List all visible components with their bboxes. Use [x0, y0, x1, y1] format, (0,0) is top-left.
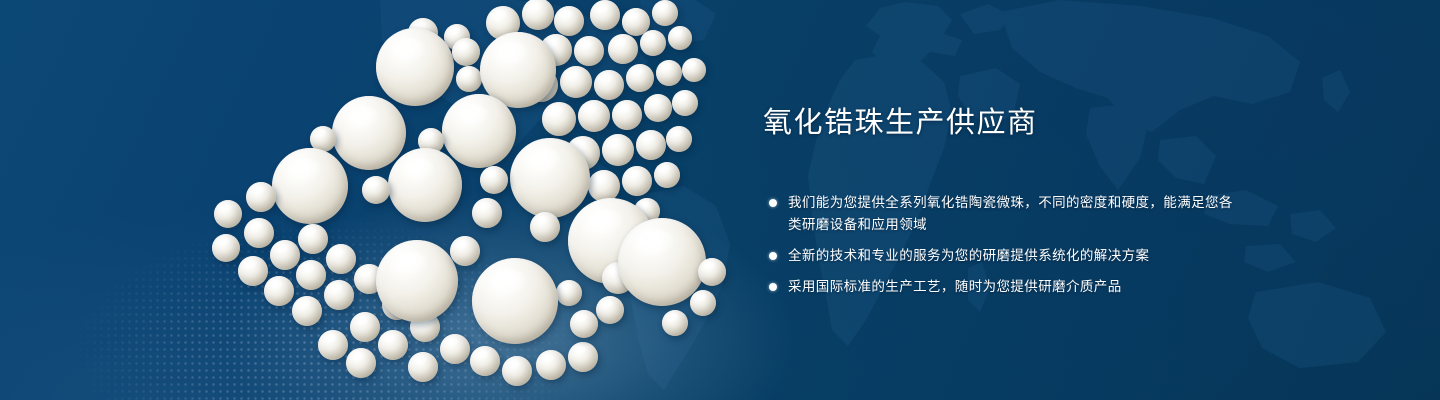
- banner-bullet-list: 我们能为您提供全系列氧化锆陶瓷微珠，不同的密度和硬度，能满足您各类研磨设备和应用…: [763, 192, 1233, 298]
- zirconia-beads-image: [150, 0, 750, 400]
- bullet-text: 全新的技术和专业的服务为您的研磨提供系统化的解决方案: [788, 248, 1149, 263]
- list-item: 采用国际标准的生产工艺，随时为您提供研磨介质产品: [763, 276, 1233, 298]
- hero-banner: 氧化锆珠生产供应商 我们能为您提供全系列氧化锆陶瓷微珠，不同的密度和硬度，能满足…: [0, 0, 1440, 400]
- banner-headline: 氧化锆珠生产供应商: [763, 104, 1233, 142]
- bullet-text: 采用国际标准的生产工艺，随时为您提供研磨介质产品: [788, 279, 1122, 294]
- bullet-dot-icon: [769, 252, 777, 260]
- halftone-texture: [0, 150, 620, 400]
- bullet-text: 我们能为您提供全系列氧化锆陶瓷微珠，不同的密度和硬度，能满足您各类研磨设备和应用…: [788, 195, 1233, 232]
- bullet-dot-icon: [769, 199, 777, 207]
- list-item: 全新的技术和专业的服务为您的研磨提供系统化的解决方案: [763, 245, 1233, 267]
- list-item: 我们能为您提供全系列氧化锆陶瓷微珠，不同的密度和硬度，能满足您各类研磨设备和应用…: [763, 192, 1233, 236]
- banner-content: 氧化锆珠生产供应商 我们能为您提供全系列氧化锆陶瓷微珠，不同的密度和硬度，能满足…: [763, 104, 1233, 298]
- bullet-dot-icon: [769, 283, 777, 291]
